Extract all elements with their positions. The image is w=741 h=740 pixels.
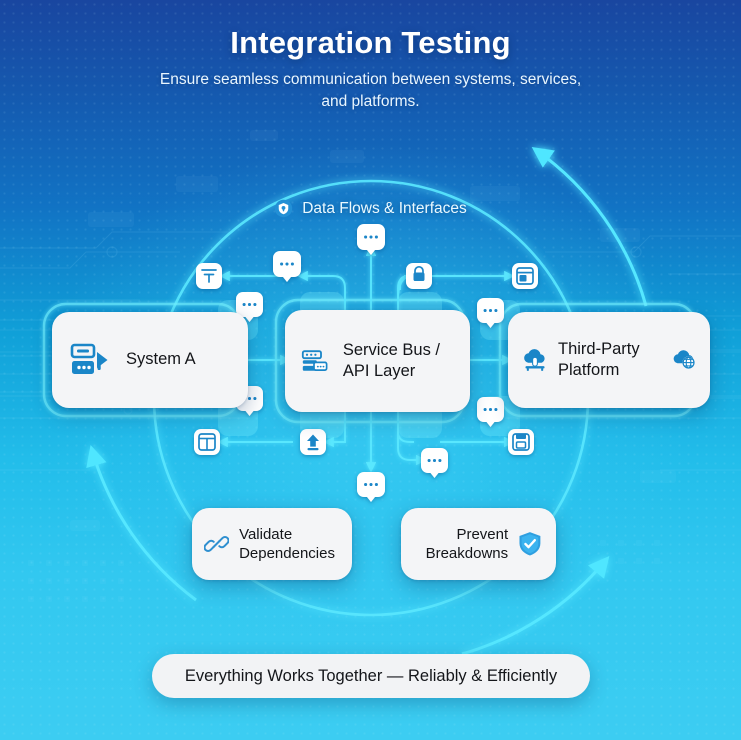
card-prevent-breakdowns[interactable]: Prevent Breakdowns: [401, 508, 556, 580]
card-prevent-label: Prevent Breakdowns: [401, 525, 508, 563]
infographic-canvas: Integration Testing Ensure seamless comm…: [0, 0, 741, 740]
card-service-bus-label: Service Bus / API Layer: [343, 340, 470, 382]
cloud-globe-icon: [671, 340, 700, 380]
flow-node-grid-left: [194, 429, 220, 455]
summary-banner[interactable]: Everything Works Together — Reliably & E…: [152, 654, 590, 698]
flow-node-dots-mid-right-lower: [477, 397, 504, 427]
card-system-a[interactable]: System A: [52, 312, 248, 408]
card-validate-label: Validate Dependencies: [239, 525, 352, 563]
flow-node-dots-lower: [421, 448, 448, 478]
flow-node-dots-top: [357, 224, 385, 255]
flow-node-window-right: [512, 263, 538, 289]
flow-node-dots-mid-right: [477, 298, 504, 328]
card-third-party[interactable]: Third-Party Platform: [508, 312, 710, 408]
card-third-party-label: Third-Party Platform: [558, 339, 663, 381]
card-validate-dependencies[interactable]: Validate Dependencies: [192, 508, 352, 580]
flow-node-filter: [196, 263, 222, 289]
card-system-a-label: System A: [126, 349, 196, 370]
summary-banner-text: Everything Works Together — Reliably & E…: [185, 667, 557, 686]
flow-node-dots-bottom: [357, 472, 385, 502]
flow-node-lock: [406, 263, 432, 289]
server-arrow-icon: [68, 338, 112, 382]
flow-node-dots-upper-left: [273, 251, 301, 282]
shield-check-icon: [516, 526, 544, 562]
cloud-network-icon: [520, 339, 550, 381]
flow-node-disk-right: [508, 429, 534, 455]
chain-link-icon: [204, 527, 229, 561]
flow-node-upload: [300, 429, 326, 455]
card-service-bus[interactable]: Service Bus / API Layer: [285, 310, 470, 412]
api-server-icon: [300, 340, 331, 382]
